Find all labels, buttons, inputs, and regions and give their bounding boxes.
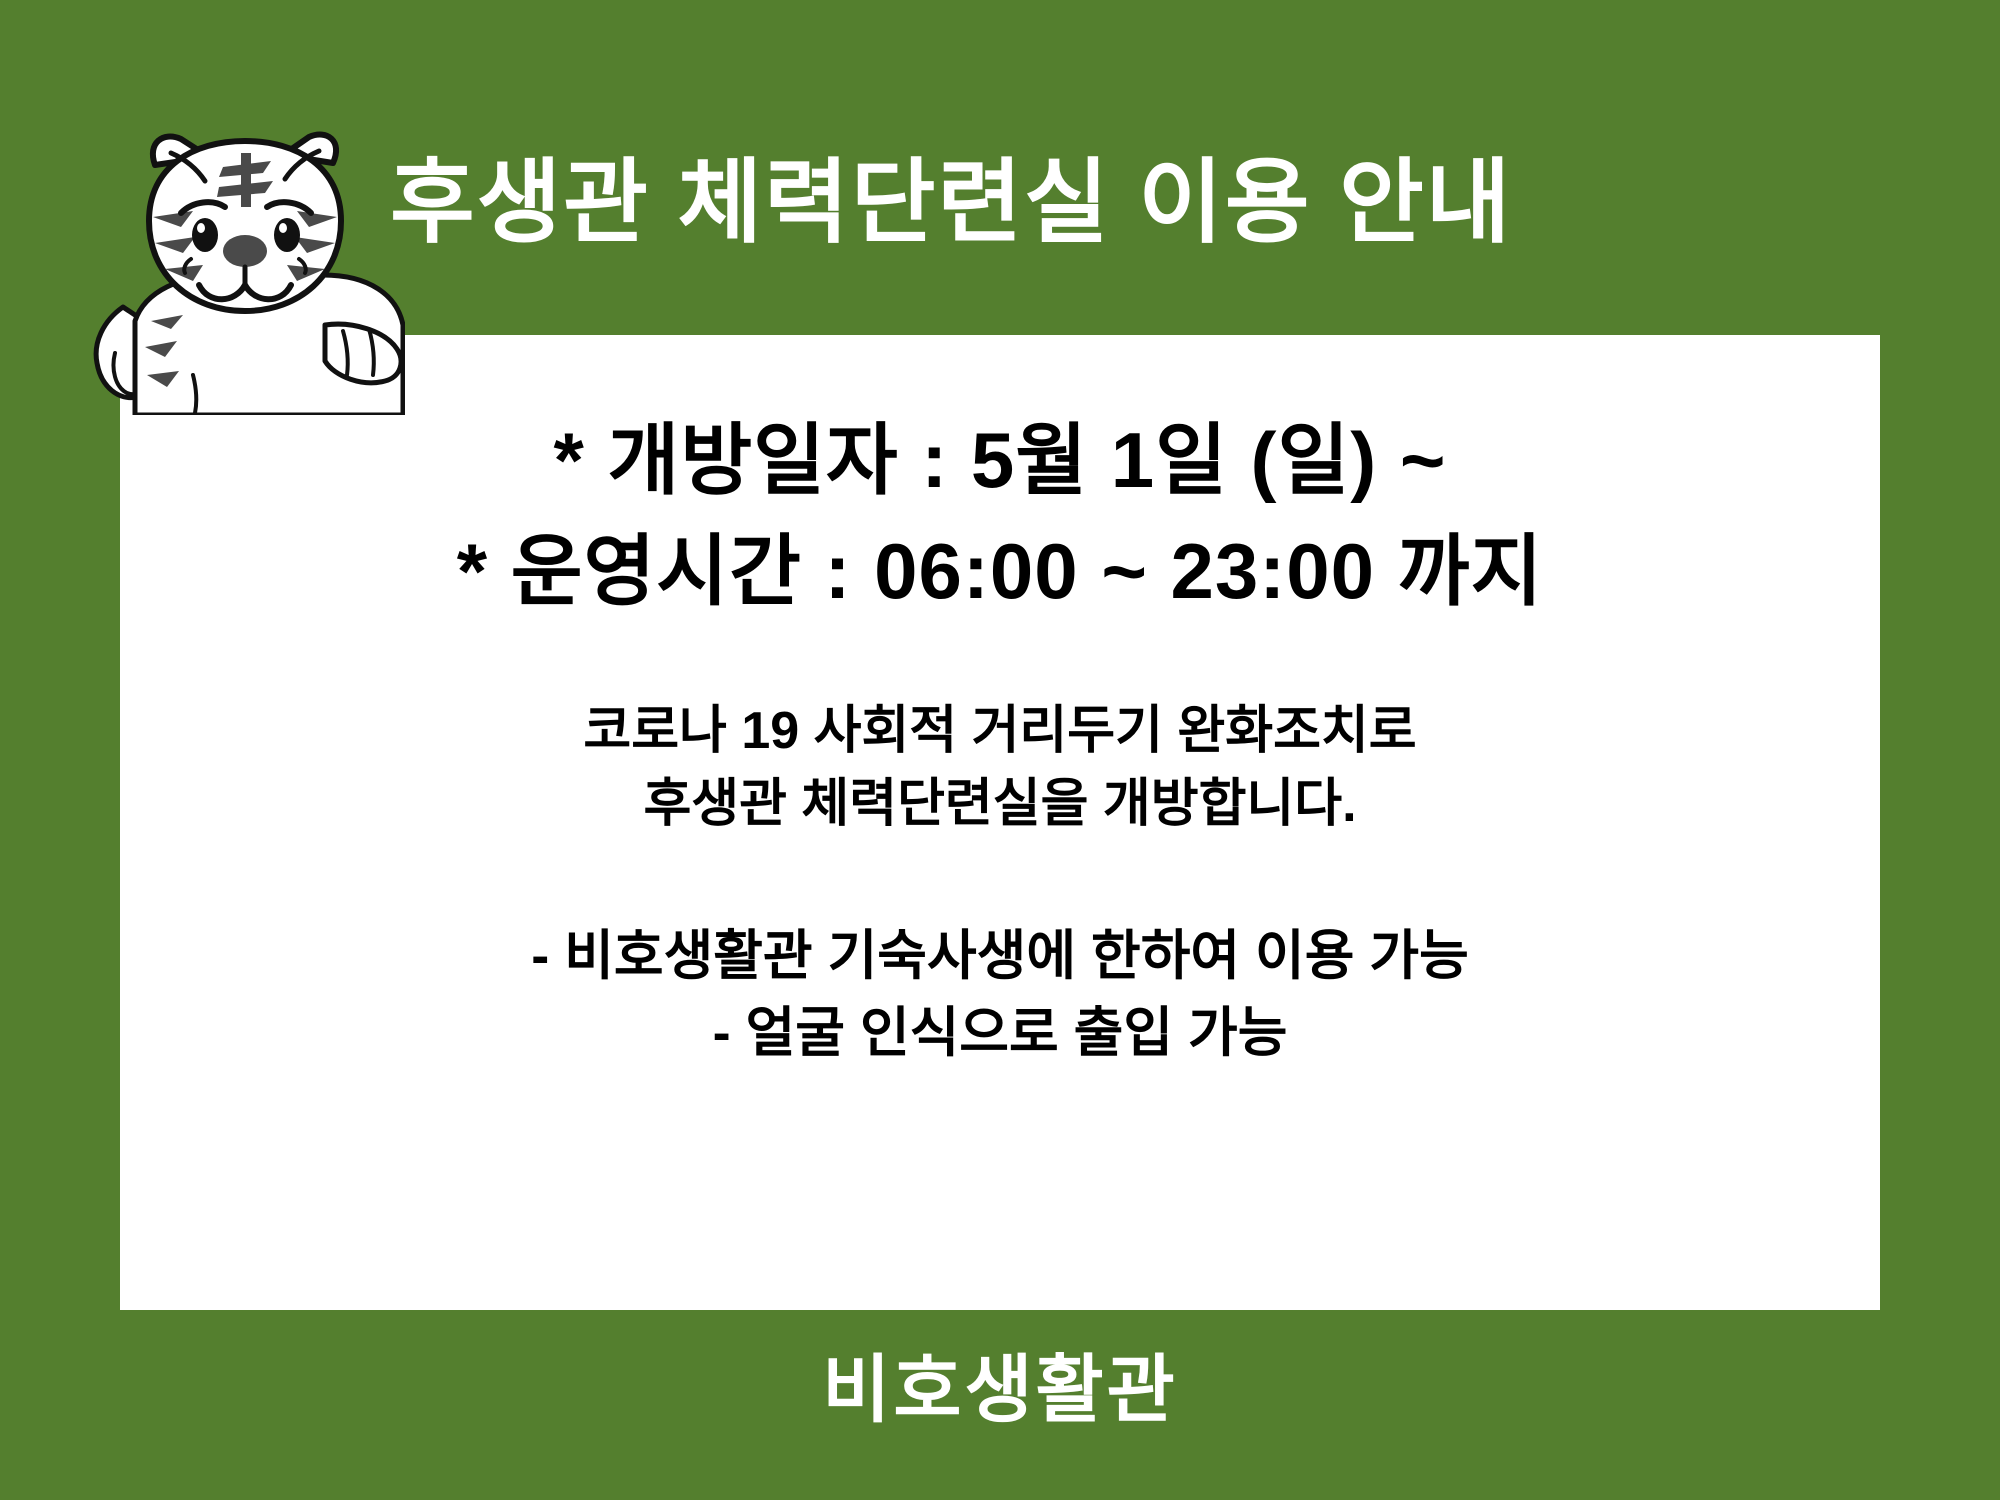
headline-group: * 개방일자 : 5월 1일 (일) ~ * 운영시간 : 06:00 ~ 23… [120, 405, 1880, 627]
headline-open-date: * 개방일자 : 5월 1일 (일) ~ [120, 405, 1880, 516]
body-line-1: 코로나 19 사회적 거리두기 완화조치로 [120, 695, 1880, 769]
poster-root: 후생관 체력단련실 이용 안내 * 개방일자 : 5월 1일 (일) ~ * 운… [0, 0, 2000, 1500]
note-face-recognition: - 얼굴 인식으로 출입 가능 [120, 995, 1880, 1072]
page-title: 후생관 체력단련실 이용 안내 [390, 155, 1790, 252]
notice-card: * 개방일자 : 5월 1일 (일) ~ * 운영시간 : 06:00 ~ 23… [120, 335, 1880, 1310]
footer-organization: 비호생활관 [0, 1330, 2000, 1437]
note-residents-only: - 비호생활관 기숙사생에 한하여 이용 가능 [120, 918, 1880, 995]
body-line-2: 후생관 체력단련실을 개방합니다. [120, 768, 1880, 842]
poster-footer: 비호생활관 [0, 1330, 2000, 1437]
headline-operating-hours: * 운영시간 : 06:00 ~ 23:00 까지 [120, 516, 1880, 627]
notes-list: - 비호생활관 기숙사생에 한하여 이용 가능 - 얼굴 인식으로 출입 가능 [120, 918, 1880, 1071]
body-paragraph: 코로나 19 사회적 거리두기 완화조치로 후생관 체력단련실을 개방합니다. [120, 695, 1880, 843]
white-tiger-mascot-icon [85, 125, 405, 415]
poster-header: 후생관 체력단련실 이용 안내 [0, 0, 2000, 340]
